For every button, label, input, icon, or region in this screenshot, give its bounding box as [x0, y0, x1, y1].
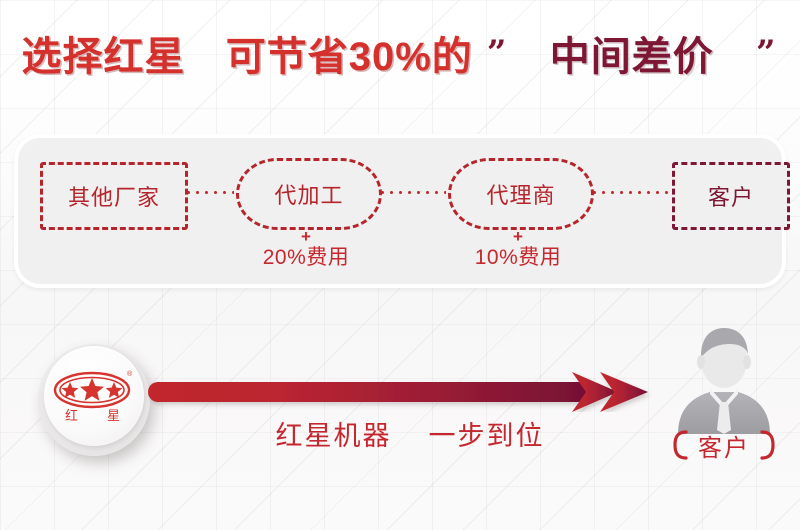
flow-node-oem: 代加工 — [236, 158, 382, 230]
connector-oem-to-agent — [378, 191, 446, 194]
flow-node-label: 其他厂家 — [68, 180, 160, 212]
bracket-right-icon — [760, 430, 776, 460]
page-title: 选择红星 可节省30%的 ” 中间差价 ” — [0, 28, 800, 88]
hongxing-star-logo-icon: ® 红 星 — [51, 368, 137, 424]
flow-node-label: 客户 — [708, 180, 754, 212]
hongxing-logo-badge: ® 红 星 — [34, 338, 154, 458]
connector-other-to-oem — [184, 191, 234, 194]
slogan-text: 红星机器 一步到位 — [150, 414, 670, 453]
headline-part2: 可节省30%的 — [226, 35, 473, 79]
flow-node-label: 代加工 — [274, 178, 343, 210]
badge-inner-disc: ® 红 星 — [44, 346, 144, 446]
fee-amount: 20%费用 — [236, 245, 376, 271]
fee-plus-sign: + — [236, 228, 376, 245]
customer-label-group: 客户 — [640, 428, 800, 462]
flow-node-client: 客户 — [672, 162, 790, 230]
flow-node-other-factory: 其他厂家 — [40, 162, 188, 230]
customer-person-icon — [668, 326, 780, 434]
logo-brand-left: 红 — [65, 408, 78, 423]
headline-part1: 选择红星 — [21, 35, 185, 79]
slogan-part2: 一步到位 — [429, 421, 545, 451]
flow-node-label: 代理商 — [486, 178, 555, 210]
slogan-part1: 红星机器 — [275, 421, 391, 451]
poster-canvas: 选择红星 可节省30%的 ” 中间差价 ” 其他厂家 代加工 代理商 客户 — [0, 0, 800, 530]
supply-chain-card: 其他厂家 代加工 代理商 客户 + 20%费用 + 10%费用 — [14, 134, 786, 288]
fee-oem: + 20%费用 — [236, 228, 376, 271]
close-quote-mark: ” — [754, 24, 779, 82]
customer-label: 客户 — [698, 428, 750, 463]
bracket-left-icon — [672, 430, 688, 460]
flow-diagram: 其他厂家 代加工 代理商 客户 + 20%费用 + 10%费用 — [14, 134, 786, 288]
fee-plus-sign: + — [448, 228, 588, 245]
logo-brand-right: 星 — [107, 408, 120, 423]
fee-agent: + 10%费用 — [448, 228, 588, 271]
headline-highlight: 中间差价 — [550, 35, 714, 79]
fee-amount: 10%费用 — [448, 245, 588, 271]
progress-arrow-icon — [148, 372, 666, 412]
registered-mark: ® — [127, 370, 133, 378]
connector-agent-to-client — [590, 191, 670, 194]
flow-node-agent: 代理商 — [448, 158, 594, 230]
open-quote-mark: ” — [485, 24, 510, 82]
